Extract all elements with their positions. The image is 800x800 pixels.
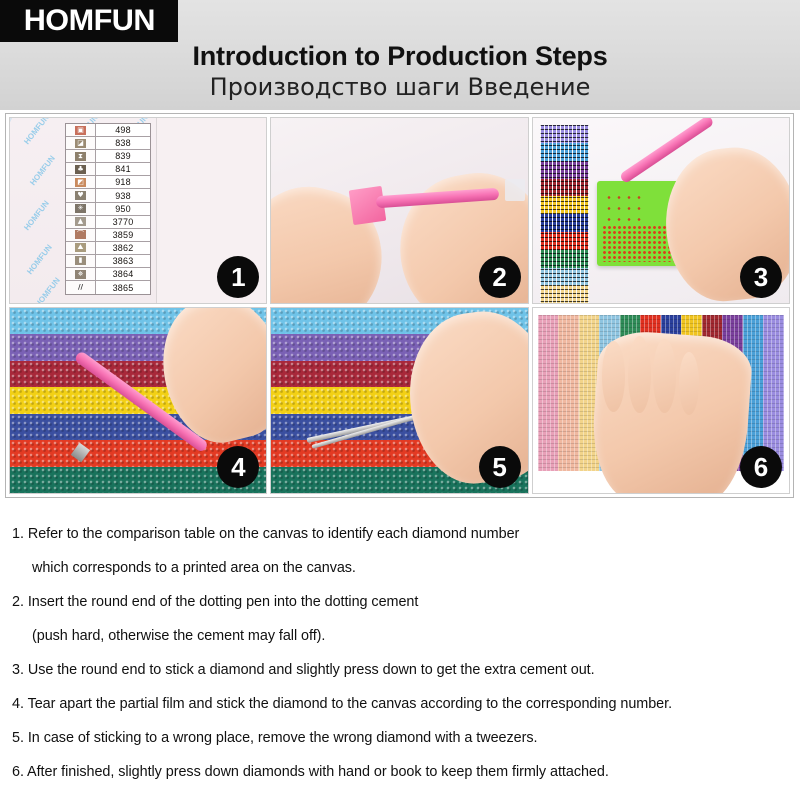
step-badge-5: 5 xyxy=(479,446,521,488)
tray-diamonds xyxy=(602,225,674,262)
step-panel-2: 2 xyxy=(270,117,528,304)
step-panel-1: HOMFUN HOMFUN HOMFUN HOMFUN HOMFUN HOMFU… xyxy=(9,117,267,304)
color-number: 3770 xyxy=(96,216,150,228)
color-swatch: ⌒ xyxy=(75,230,86,239)
color-symbol-row: ◩918 xyxy=(66,176,150,189)
color-symbol-row: ⛰3862 xyxy=(66,242,150,255)
step-panel-4: 4 xyxy=(9,307,267,494)
symbol-rounded-square-icon: ▣ xyxy=(66,124,96,136)
color-number: 498 xyxy=(96,124,150,136)
color-swatch: ✵ xyxy=(75,270,86,279)
color-number: 3864 xyxy=(96,268,150,280)
color-swatch: ◩ xyxy=(75,178,86,187)
color-symbol-row: ◪838 xyxy=(66,137,150,150)
symbol-mountain-icon: ⛰ xyxy=(66,242,96,254)
color-swatch: ▮ xyxy=(75,256,86,265)
symbol-club-icon: ♣ xyxy=(66,163,96,175)
finger xyxy=(628,336,651,414)
step-badge-2: 2 xyxy=(479,256,521,298)
color-number: 3859 xyxy=(96,229,150,241)
color-symbol-row: ▣498 xyxy=(66,124,150,137)
color-symbol-row: ⧗839 xyxy=(66,150,150,163)
instruction-line: 6. After finished, slightly press down d… xyxy=(12,755,788,789)
color-number: 950 xyxy=(96,203,150,215)
color-swatch: // xyxy=(75,283,86,292)
symbol-hourglass-icon: ⧗ xyxy=(66,150,96,162)
page-title: Introduction to Production Steps xyxy=(0,40,800,72)
finger xyxy=(602,341,625,411)
color-symbol-row: ♥938 xyxy=(66,189,150,202)
pen-cap xyxy=(505,179,526,201)
instruction-line: 5. In case of sticking to a wrong place,… xyxy=(12,721,788,755)
brand-logo: HOMFUN xyxy=(0,0,178,42)
color-symbol-table: ▣498◪838⧗839♣841◩918♥938✳950▲3770⌒3859⛰3… xyxy=(65,123,151,295)
color-number: 3862 xyxy=(96,242,150,254)
brand-logo-text: HOMFUN xyxy=(23,6,154,36)
color-swatch: ♣ xyxy=(75,165,86,174)
color-symbol-row: ✳950 xyxy=(66,203,150,216)
step-panel-5: 5 xyxy=(270,307,528,494)
symbol-flower-icon: ✵ xyxy=(66,268,96,280)
title-block: Introduction to Production Steps Произво… xyxy=(0,40,800,102)
color-number: 839 xyxy=(96,150,150,162)
production-steps-page: HOMFUN Introduction to Production Steps … xyxy=(0,0,800,800)
page-subtitle-russian: Производство шаги Введение xyxy=(0,72,800,102)
steps-image-grid: HOMFUN HOMFUN HOMFUN HOMFUN HOMFUN HOMFU… xyxy=(5,113,794,498)
color-symbol-row: ♣841 xyxy=(66,163,150,176)
color-symbol-row: ▲3770 xyxy=(66,216,150,229)
symbol-arch-icon: ⌒ xyxy=(66,229,96,241)
symbol-triangle-icon: ▲ xyxy=(66,216,96,228)
instruction-line: 3. Use the round end to stick a diamond … xyxy=(12,653,788,687)
step-panel-3: 3 xyxy=(532,117,790,304)
step-badge-6: 6 xyxy=(740,446,782,488)
color-swatch: ◪ xyxy=(75,139,86,148)
symbol-half-shaded-square-icon: ◪ xyxy=(66,137,96,149)
color-symbol-row: ⌒3859 xyxy=(66,229,150,242)
page-header: HOMFUN Introduction to Production Steps … xyxy=(0,0,800,110)
color-number: 938 xyxy=(96,189,150,201)
symbol-vertical-bar-icon: ▮ xyxy=(66,255,96,267)
instruction-line: which corresponds to a printed area on t… xyxy=(12,551,788,585)
instruction-line: 1. Refer to the comparison table on the … xyxy=(12,517,788,551)
symbol-asterisk-icon: ✳ xyxy=(66,203,96,215)
instruction-line: (push hard, otherwise the cement may fal… xyxy=(12,619,788,653)
canvas-strip xyxy=(540,125,589,303)
step-badge-3: 3 xyxy=(740,256,782,298)
symbol-quarter-square-icon: ◩ xyxy=(66,176,96,188)
color-number: 841 xyxy=(96,163,150,175)
color-swatch: ⛰ xyxy=(75,243,86,252)
step-panel-6: 6 xyxy=(532,307,790,494)
color-symbol-row: ✵3864 xyxy=(66,268,150,281)
symbol-heart-icon: ♥ xyxy=(66,189,96,201)
color-swatch: ⧗ xyxy=(75,152,86,161)
instruction-line: 2. Insert the round end of the dotting p… xyxy=(12,585,788,619)
instruction-line: 4. Tear apart the partial film and stick… xyxy=(12,687,788,721)
color-symbol-row: //3865 xyxy=(66,281,150,294)
color-number: 918 xyxy=(96,176,150,188)
instructions-list: 1. Refer to the comparison table on the … xyxy=(0,503,800,789)
color-swatch: ✳ xyxy=(75,204,86,213)
color-number: 3865 xyxy=(96,281,150,294)
color-symbol-row: ▮3863 xyxy=(66,255,150,268)
color-number: 838 xyxy=(96,137,150,149)
step-badge-1: 1 xyxy=(217,256,259,298)
color-swatch: ▣ xyxy=(75,126,86,135)
symbol-double-slash-icon: // xyxy=(66,281,96,294)
color-swatch: ♥ xyxy=(75,191,86,200)
tray-diamonds-scattered xyxy=(604,192,645,222)
color-swatch: ▲ xyxy=(75,217,86,226)
color-number: 3863 xyxy=(96,255,150,267)
